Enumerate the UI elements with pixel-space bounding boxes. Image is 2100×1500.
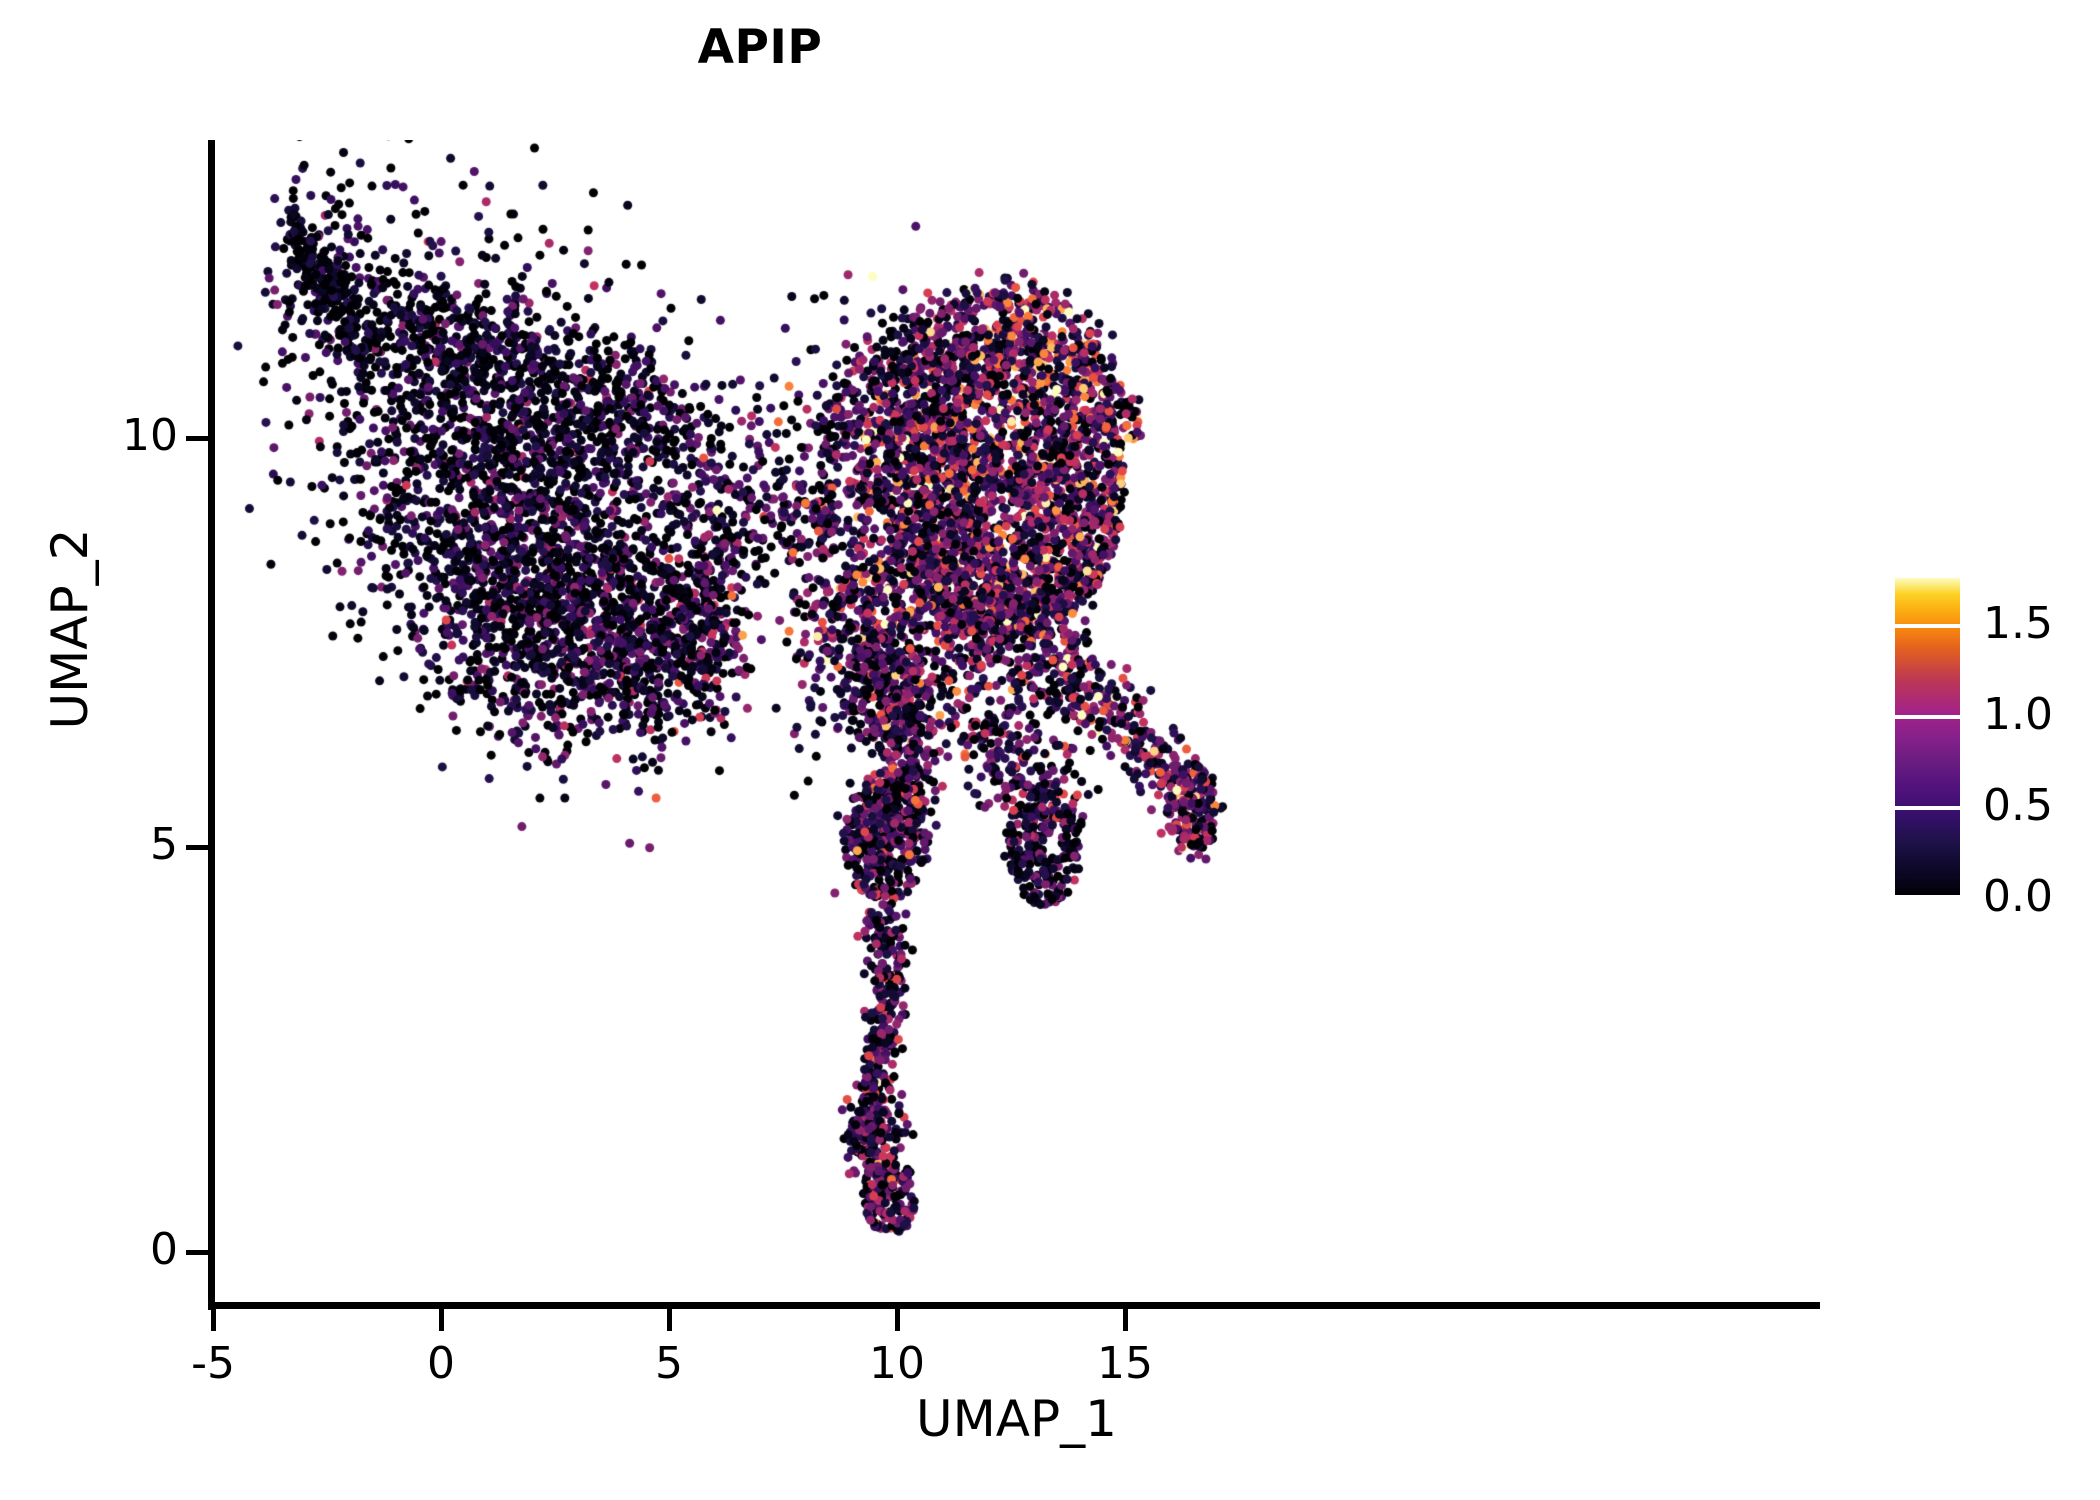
x-tick-mark — [211, 1309, 216, 1331]
x-tick-mark — [895, 1309, 900, 1331]
colorbar-tick — [1895, 806, 1960, 810]
colorbar-tick-label: 0.5 — [1983, 784, 2053, 828]
y-tick-mark — [186, 436, 208, 441]
scatter-plot-canvas — [213, 140, 1820, 1306]
y-tick-mark — [186, 845, 208, 850]
x-tick-mark — [667, 1309, 672, 1331]
colorbar-tick-label: 0.0 — [1983, 875, 2053, 919]
y-axis-label: UMAP_2 — [41, 399, 99, 859]
x-axis-spine — [208, 1302, 1820, 1309]
x-tick-label: 15 — [1045, 1338, 1205, 1389]
figure-root: APIP -5 0 5 10 15 0 5 10 UMAP_1 UMAP_2 0… — [0, 0, 2100, 1500]
colorbar-tick — [1895, 895, 1960, 899]
x-axis-label: UMAP_1 — [213, 1390, 1820, 1448]
colorbar: 0.0 0.5 1.0 1.5 — [1895, 578, 2095, 908]
y-tick-mark — [186, 1250, 208, 1255]
page-title: APIP — [0, 20, 1520, 75]
x-tick-mark — [439, 1309, 444, 1331]
colorbar-tick — [1895, 624, 1960, 628]
colorbar-gradient — [1895, 578, 1960, 898]
y-axis-spine — [208, 140, 215, 1310]
x-tick-label: 0 — [361, 1338, 521, 1389]
colorbar-tick — [1895, 715, 1960, 719]
colorbar-tick-label: 1.5 — [1983, 602, 2053, 646]
x-tick-label: 5 — [589, 1338, 749, 1389]
colorbar-tick-label: 1.0 — [1983, 693, 2053, 737]
x-tick-mark — [1123, 1309, 1128, 1331]
y-tick-label: 0 — [0, 1224, 178, 1275]
x-tick-label: 10 — [817, 1338, 977, 1389]
plot-area — [213, 140, 1820, 1306]
x-tick-label: -5 — [133, 1338, 293, 1389]
